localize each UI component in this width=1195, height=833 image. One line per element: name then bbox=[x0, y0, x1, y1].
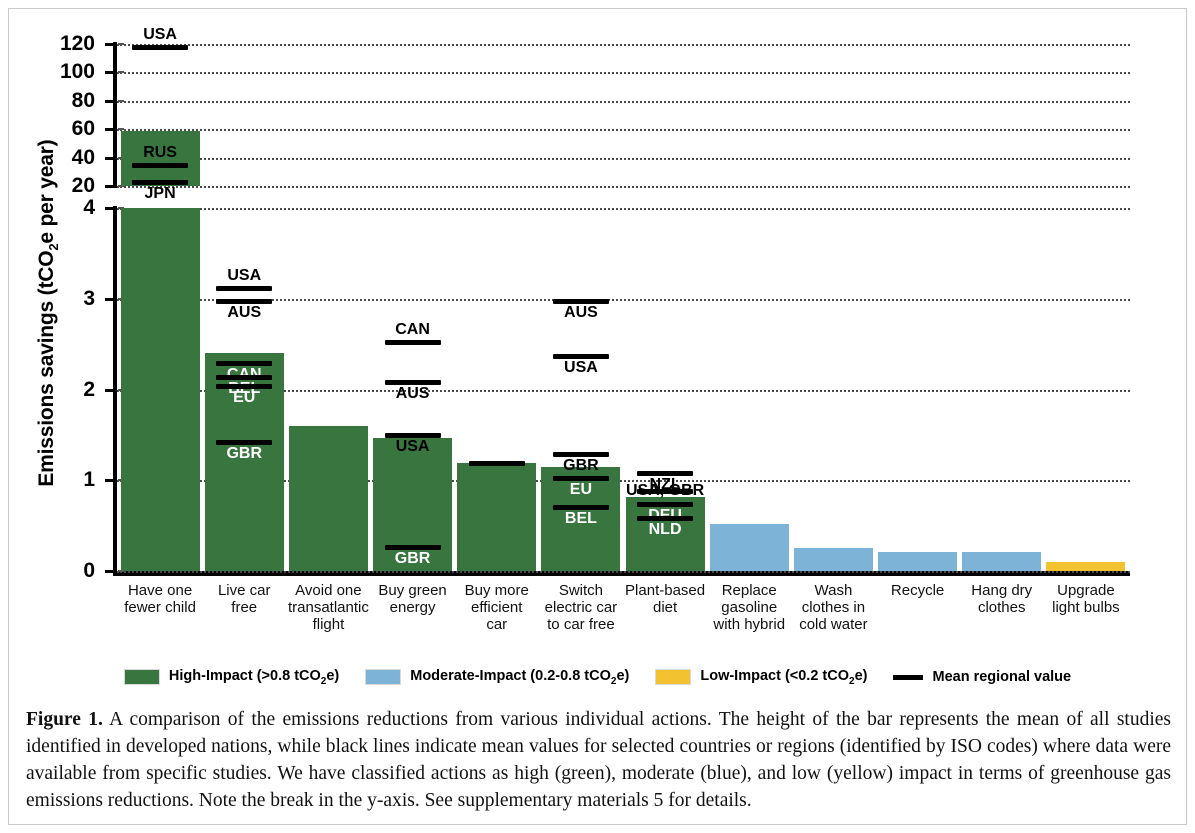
legend-label-post-high: e) bbox=[326, 668, 339, 684]
mean-label-JPN-0: JPN bbox=[105, 186, 215, 202]
x-tick-line-2-2: flight bbox=[278, 616, 378, 633]
x-tick-line-5-2: to car free bbox=[531, 616, 631, 633]
figure-panel: Emissions savings (tCO2e per year) 01234… bbox=[0, 0, 1195, 833]
mean-line-AUS-5 bbox=[553, 299, 609, 304]
bar-0 bbox=[121, 208, 200, 571]
chart-legend: High-Impact (>0.8 tCO2e)Moderate-Impact … bbox=[0, 660, 1195, 694]
bar-8 bbox=[794, 548, 873, 571]
legend-label-mean: Mean regional value bbox=[932, 669, 1071, 685]
legend-label-low: Low-Impact (<0.2 tCO2e) bbox=[700, 668, 867, 687]
mean-label-AUS-3: AUS bbox=[358, 386, 468, 402]
x-tick-line-11-0: Upgrade bbox=[1036, 582, 1136, 599]
x-tick-line-11-1: light bulbs bbox=[1036, 599, 1136, 616]
mean-label-USA-0: USA bbox=[105, 27, 215, 43]
legend-label-pre-low: Low-Impact (<0.2 tCO bbox=[700, 668, 849, 684]
x-tick-label-11: Upgradelight bulbs bbox=[1036, 582, 1136, 616]
bar-10 bbox=[962, 552, 1041, 571]
mean-line-JPN-0 bbox=[132, 180, 188, 185]
mean-label-AUS-5: AUS bbox=[526, 305, 636, 321]
caption-text: A comparison of the emissions reductions… bbox=[26, 709, 1171, 811]
mean-label-USA-1: USA bbox=[189, 268, 299, 284]
mean-label-USA-5: USA bbox=[526, 360, 636, 376]
mean-label-RUS-0: RUS bbox=[105, 145, 215, 161]
legend-swatch-mean-line-icon bbox=[893, 675, 923, 680]
legend-swatch-low bbox=[655, 669, 691, 685]
mean-label-USAGBR-6: USA, GBR bbox=[610, 483, 720, 499]
legend-item-moderate[interactable]: Moderate-Impact (0.2-0.8 tCO2e) bbox=[365, 668, 629, 687]
mean-label-EU-1: EU bbox=[189, 390, 299, 406]
mean-line-RUS-0 bbox=[132, 163, 188, 168]
mean-label-USA-4: USA bbox=[442, 443, 552, 459]
bar-series bbox=[0, 0, 1195, 655]
legend-item-low[interactable]: Low-Impact (<0.2 tCO2e) bbox=[655, 668, 867, 687]
mean-label-NLD-6: NLD bbox=[610, 522, 720, 538]
legend-swatch-high bbox=[124, 669, 160, 685]
x-tick-line-8-2: cold water bbox=[783, 616, 883, 633]
mean-line-USA-1 bbox=[216, 286, 272, 291]
mean-label-AUS-1: AUS bbox=[189, 305, 299, 321]
mean-line-USA-0 bbox=[132, 45, 188, 50]
legend-item-mean[interactable]: Mean regional value bbox=[893, 669, 1071, 685]
bar-2 bbox=[289, 426, 368, 571]
mean-label-GBR-5: GBR bbox=[526, 458, 636, 474]
mean-line-CAN-3 bbox=[385, 340, 441, 345]
mean-label-CAN-3: CAN bbox=[358, 322, 468, 338]
mean-line-USA-4 bbox=[469, 461, 525, 466]
figure-number: Figure 1. bbox=[26, 709, 103, 730]
legend-label-post-moderate: e) bbox=[616, 668, 629, 684]
bar-4 bbox=[457, 463, 536, 571]
mean-label-GBR-1: GBR bbox=[189, 446, 299, 462]
chart-plot-area: Emissions savings (tCO2e per year) 01234… bbox=[0, 0, 1195, 655]
legend-label-pre-mean: Mean regional value bbox=[932, 669, 1071, 685]
legend-item-high[interactable]: High-Impact (>0.8 tCO2e) bbox=[124, 668, 339, 687]
legend-label-pre-high: High-Impact (>0.8 tCO bbox=[169, 668, 321, 684]
bar-7 bbox=[710, 524, 789, 571]
legend-label-pre-moderate: Moderate-Impact (0.2-0.8 tCO bbox=[410, 668, 611, 684]
legend-swatch-moderate bbox=[365, 669, 401, 685]
bar-11 bbox=[1046, 562, 1125, 571]
bar-9 bbox=[878, 552, 957, 571]
mean-line-EU-5 bbox=[553, 476, 609, 481]
legend-label-post-low: e) bbox=[855, 668, 868, 684]
legend-label-moderate: Moderate-Impact (0.2-0.8 tCO2e) bbox=[410, 668, 629, 687]
x-tick-line-8-1: clothes in bbox=[783, 599, 883, 616]
figure-caption: Figure 1. A comparison of the emissions … bbox=[26, 706, 1171, 814]
legend-label-high: High-Impact (>0.8 tCO2e) bbox=[169, 668, 339, 687]
mean-label-GBR-3: GBR bbox=[358, 551, 468, 567]
